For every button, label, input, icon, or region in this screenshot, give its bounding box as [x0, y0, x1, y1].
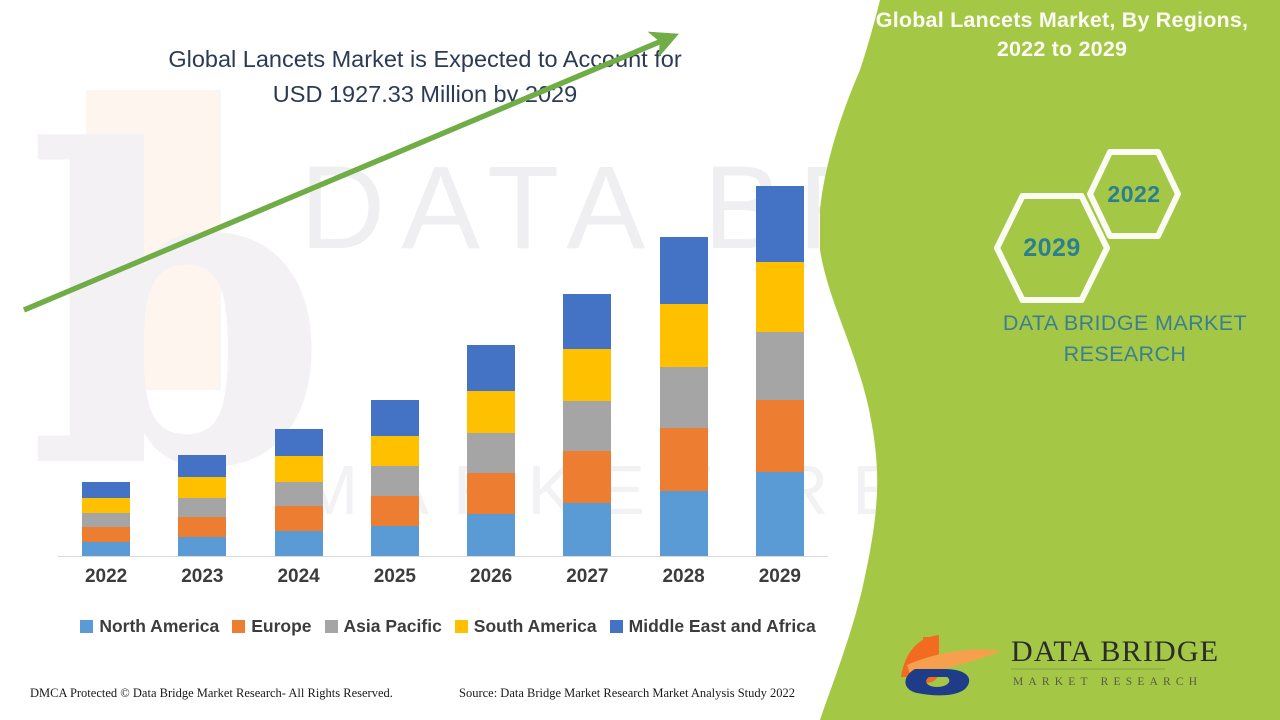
bar-segment — [563, 503, 611, 557]
bar-segment — [467, 345, 515, 391]
page-title: Global Lancets Market is Expected to Acc… — [60, 42, 790, 112]
legend-swatch-icon — [325, 620, 338, 633]
company-logo: DATA BRIDGE MARKET RESEARCH — [893, 625, 1253, 697]
panel-title-line-2: 2022 to 2029 — [862, 35, 1262, 64]
legend-item[interactable]: North America — [80, 616, 219, 637]
bar-segment — [660, 304, 708, 367]
bar-segment — [275, 506, 323, 531]
bar-segment — [275, 482, 323, 506]
chart-baseline — [58, 556, 828, 557]
bar-segment — [82, 482, 130, 498]
bar-segment — [275, 531, 323, 557]
bar-segment — [275, 429, 323, 456]
bar-segment — [371, 436, 419, 466]
legend-label: Middle East and Africa — [629, 616, 816, 637]
legend-label: Asia Pacific — [344, 616, 442, 637]
bar-segment — [563, 451, 611, 503]
bar-segment — [563, 349, 611, 401]
x-axis-tick: 2022 — [58, 566, 154, 588]
bar-segment — [756, 332, 804, 400]
bar-segment — [275, 456, 323, 482]
brand-name: DATA BRIDGE MARKET RESEARCH — [980, 308, 1270, 370]
bar-segment — [371, 496, 419, 526]
bar-segment — [82, 542, 130, 557]
bar-segment — [178, 455, 226, 477]
legend-item[interactable]: Europe — [232, 616, 311, 637]
bar-segment — [660, 428, 708, 491]
brand-name-line-2: RESEARCH — [980, 339, 1270, 370]
legend-swatch-icon — [610, 620, 623, 633]
legend-item[interactable]: South America — [455, 616, 597, 637]
bar-segment — [371, 400, 419, 436]
bar-group — [563, 294, 611, 557]
x-axis-labels: 20222023202420252026202720282029 — [58, 566, 828, 596]
x-axis-tick: 2029 — [732, 566, 828, 588]
logo-mark — [901, 635, 1001, 695]
bar-segment — [756, 472, 804, 557]
bar-group — [275, 429, 323, 557]
hexagon-label-2022: 2022 — [1086, 148, 1182, 240]
legend-item[interactable]: Asia Pacific — [325, 616, 442, 637]
bar-group — [178, 455, 226, 557]
bar-segment — [371, 466, 419, 496]
bar-chart-plot-area — [58, 150, 828, 557]
bar-segment — [178, 477, 226, 498]
page-title-line-2: USD 1927.33 Million by 2029 — [60, 77, 790, 112]
bar-segment — [82, 498, 130, 513]
bar-segment — [82, 527, 130, 542]
panel-title: Global Lancets Market, By Regions, 2022 … — [862, 6, 1262, 64]
chart-legend: North AmericaEuropeAsia PacificSouth Ame… — [58, 616, 838, 637]
bar-segment — [178, 537, 226, 557]
x-axis-tick: 2024 — [251, 566, 347, 588]
legend-swatch-icon — [80, 620, 93, 633]
bar-segment — [756, 400, 804, 472]
logo-name-top: DATA BRIDGE — [1011, 635, 1219, 668]
bar-segment — [467, 433, 515, 473]
page-title-line-1: Global Lancets Market is Expected to Acc… — [60, 42, 790, 77]
bar-group — [660, 237, 708, 557]
bar-group — [371, 400, 419, 557]
x-axis-tick: 2023 — [154, 566, 250, 588]
hexagon-badge-2022: 2022 — [1086, 148, 1182, 240]
bar-segment — [660, 237, 708, 304]
bar-segment — [178, 517, 226, 537]
x-axis-tick: 2028 — [636, 566, 732, 588]
bar-segment — [563, 401, 611, 451]
infographic-root: b DATA BRIDGE MARKET RESEARCH Global Lan… — [0, 0, 1280, 720]
bar-segment — [371, 526, 419, 557]
x-axis-tick: 2027 — [539, 566, 635, 588]
bar-group — [756, 186, 804, 557]
footer-source-text: Source: Data Bridge Market Research Mark… — [459, 686, 795, 701]
bar-segment — [467, 391, 515, 433]
bar-segment — [467, 514, 515, 557]
bar-segment — [660, 491, 708, 557]
bar-group — [82, 482, 130, 557]
bar-segment — [660, 367, 708, 428]
logo-name-bottom: MARKET RESEARCH — [1013, 676, 1202, 688]
x-axis-tick: 2025 — [347, 566, 443, 588]
brand-name-line-1: DATA BRIDGE MARKET — [980, 308, 1270, 339]
footer-dmca-text: DMCA Protected © Data Bridge Market Rese… — [30, 686, 393, 701]
bar-segment — [756, 186, 804, 262]
legend-label: South America — [474, 616, 597, 637]
legend-item[interactable]: Middle East and Africa — [610, 616, 816, 637]
bar-segment — [563, 294, 611, 349]
legend-swatch-icon — [232, 620, 245, 633]
x-axis-tick: 2026 — [443, 566, 539, 588]
bar-group — [467, 345, 515, 557]
panel-title-line-1: Global Lancets Market, By Regions, — [862, 6, 1262, 35]
bar-segment — [756, 262, 804, 332]
bar-segment — [467, 473, 515, 514]
bar-segment — [82, 513, 130, 527]
legend-label: North America — [99, 616, 219, 637]
legend-label: Europe — [251, 616, 311, 637]
bar-segment — [178, 498, 226, 517]
legend-swatch-icon — [455, 620, 468, 633]
